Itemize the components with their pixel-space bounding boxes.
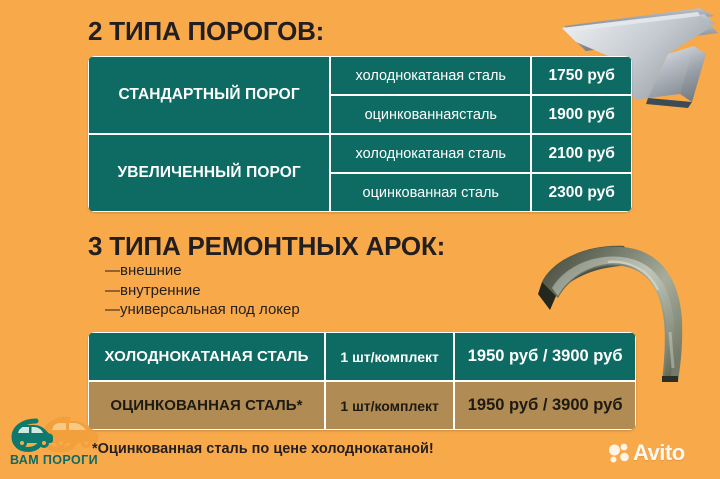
avito-dots-icon bbox=[608, 442, 630, 464]
brand-wordmark: ВАМ ПОРОГИ bbox=[6, 453, 102, 467]
price-list-poster: 2 ТИПА ПОРОГОВ: СТАНДАРТНЫЙ ПОРОГ холодн… bbox=[0, 0, 720, 479]
list-item: — универсальная под локер bbox=[105, 300, 445, 320]
avito-label: Avito bbox=[633, 440, 685, 466]
dash-icon: — bbox=[105, 300, 120, 320]
page-title-sills: 2 ТИПА ПОРОГОВ: bbox=[88, 16, 324, 47]
table-row: УВЕЛИЧЕННЫЙ ПОРОГ холоднокатаная сталь 2… bbox=[88, 134, 632, 173]
sill-category-standard: СТАНДАРТНЫЙ ПОРОГ bbox=[88, 56, 330, 134]
arch-type-label: универсальная под локер bbox=[120, 300, 300, 320]
sill-price: 1900 руб bbox=[531, 95, 632, 134]
list-item: — внутренние bbox=[105, 281, 445, 301]
sill-material: оцинкованная сталь bbox=[330, 173, 531, 212]
sill-material: холоднокатаная сталь bbox=[330, 56, 531, 95]
table-row: ОЦИНКОВАННАЯ СТАЛЬ* 1 шт/комплект 1950 р… bbox=[88, 381, 636, 430]
sill-price: 2300 руб bbox=[531, 173, 632, 212]
dash-icon: — bbox=[105, 261, 120, 281]
table-row: ХОЛОДНОКАТАНАЯ СТАЛЬ 1 шт/комплект 1950 … bbox=[88, 332, 636, 381]
dash-icon: — bbox=[105, 281, 120, 301]
sills-price-table: СТАНДАРТНЫЙ ПОРОГ холоднокатаная сталь 1… bbox=[88, 56, 632, 212]
arch-type-label: внешние bbox=[120, 261, 182, 281]
sill-price: 1750 руб bbox=[531, 56, 632, 95]
arch-quantity: 1 шт/комплект bbox=[325, 332, 454, 381]
arch-price: 1950 руб / 3900 руб bbox=[454, 381, 636, 430]
footnote-text: *Оцинкованная сталь по цене холоднокатан… bbox=[92, 441, 434, 457]
two-cars-icon bbox=[6, 409, 102, 453]
arch-type-label: внутренние bbox=[120, 281, 201, 301]
page-title-arches: 3 ТИПА РЕМОНТНЫХ АРОК: bbox=[88, 231, 445, 262]
arch-quantity: 1 шт/комплект bbox=[325, 381, 454, 430]
sill-material: холоднокатаная сталь bbox=[330, 134, 531, 173]
avito-watermark: Avito bbox=[608, 440, 685, 466]
table-row: СТАНДАРТНЫЙ ПОРОГ холоднокатаная сталь 1… bbox=[88, 56, 632, 95]
arch-material: ОЦИНКОВАННАЯ СТАЛЬ* bbox=[88, 381, 325, 430]
arch-material: ХОЛОДНОКАТАНАЯ СТАЛЬ bbox=[88, 332, 325, 381]
sill-price: 2100 руб bbox=[531, 134, 632, 173]
arches-price-table: ХОЛОДНОКАТАНАЯ СТАЛЬ 1 шт/комплект 1950 … bbox=[88, 332, 636, 430]
list-item: — внешние bbox=[105, 261, 445, 281]
sill-category-enlarged: УВЕЛИЧЕННЫЙ ПОРОГ bbox=[88, 134, 330, 212]
brand-logo: ВАМ ПОРОГИ bbox=[6, 409, 102, 471]
sill-material: оцинкованнаясталь bbox=[330, 95, 531, 134]
arch-price: 1950 руб / 3900 руб bbox=[454, 332, 636, 381]
arch-types-list: — внешние — внутренние — универсальная п… bbox=[105, 261, 445, 320]
